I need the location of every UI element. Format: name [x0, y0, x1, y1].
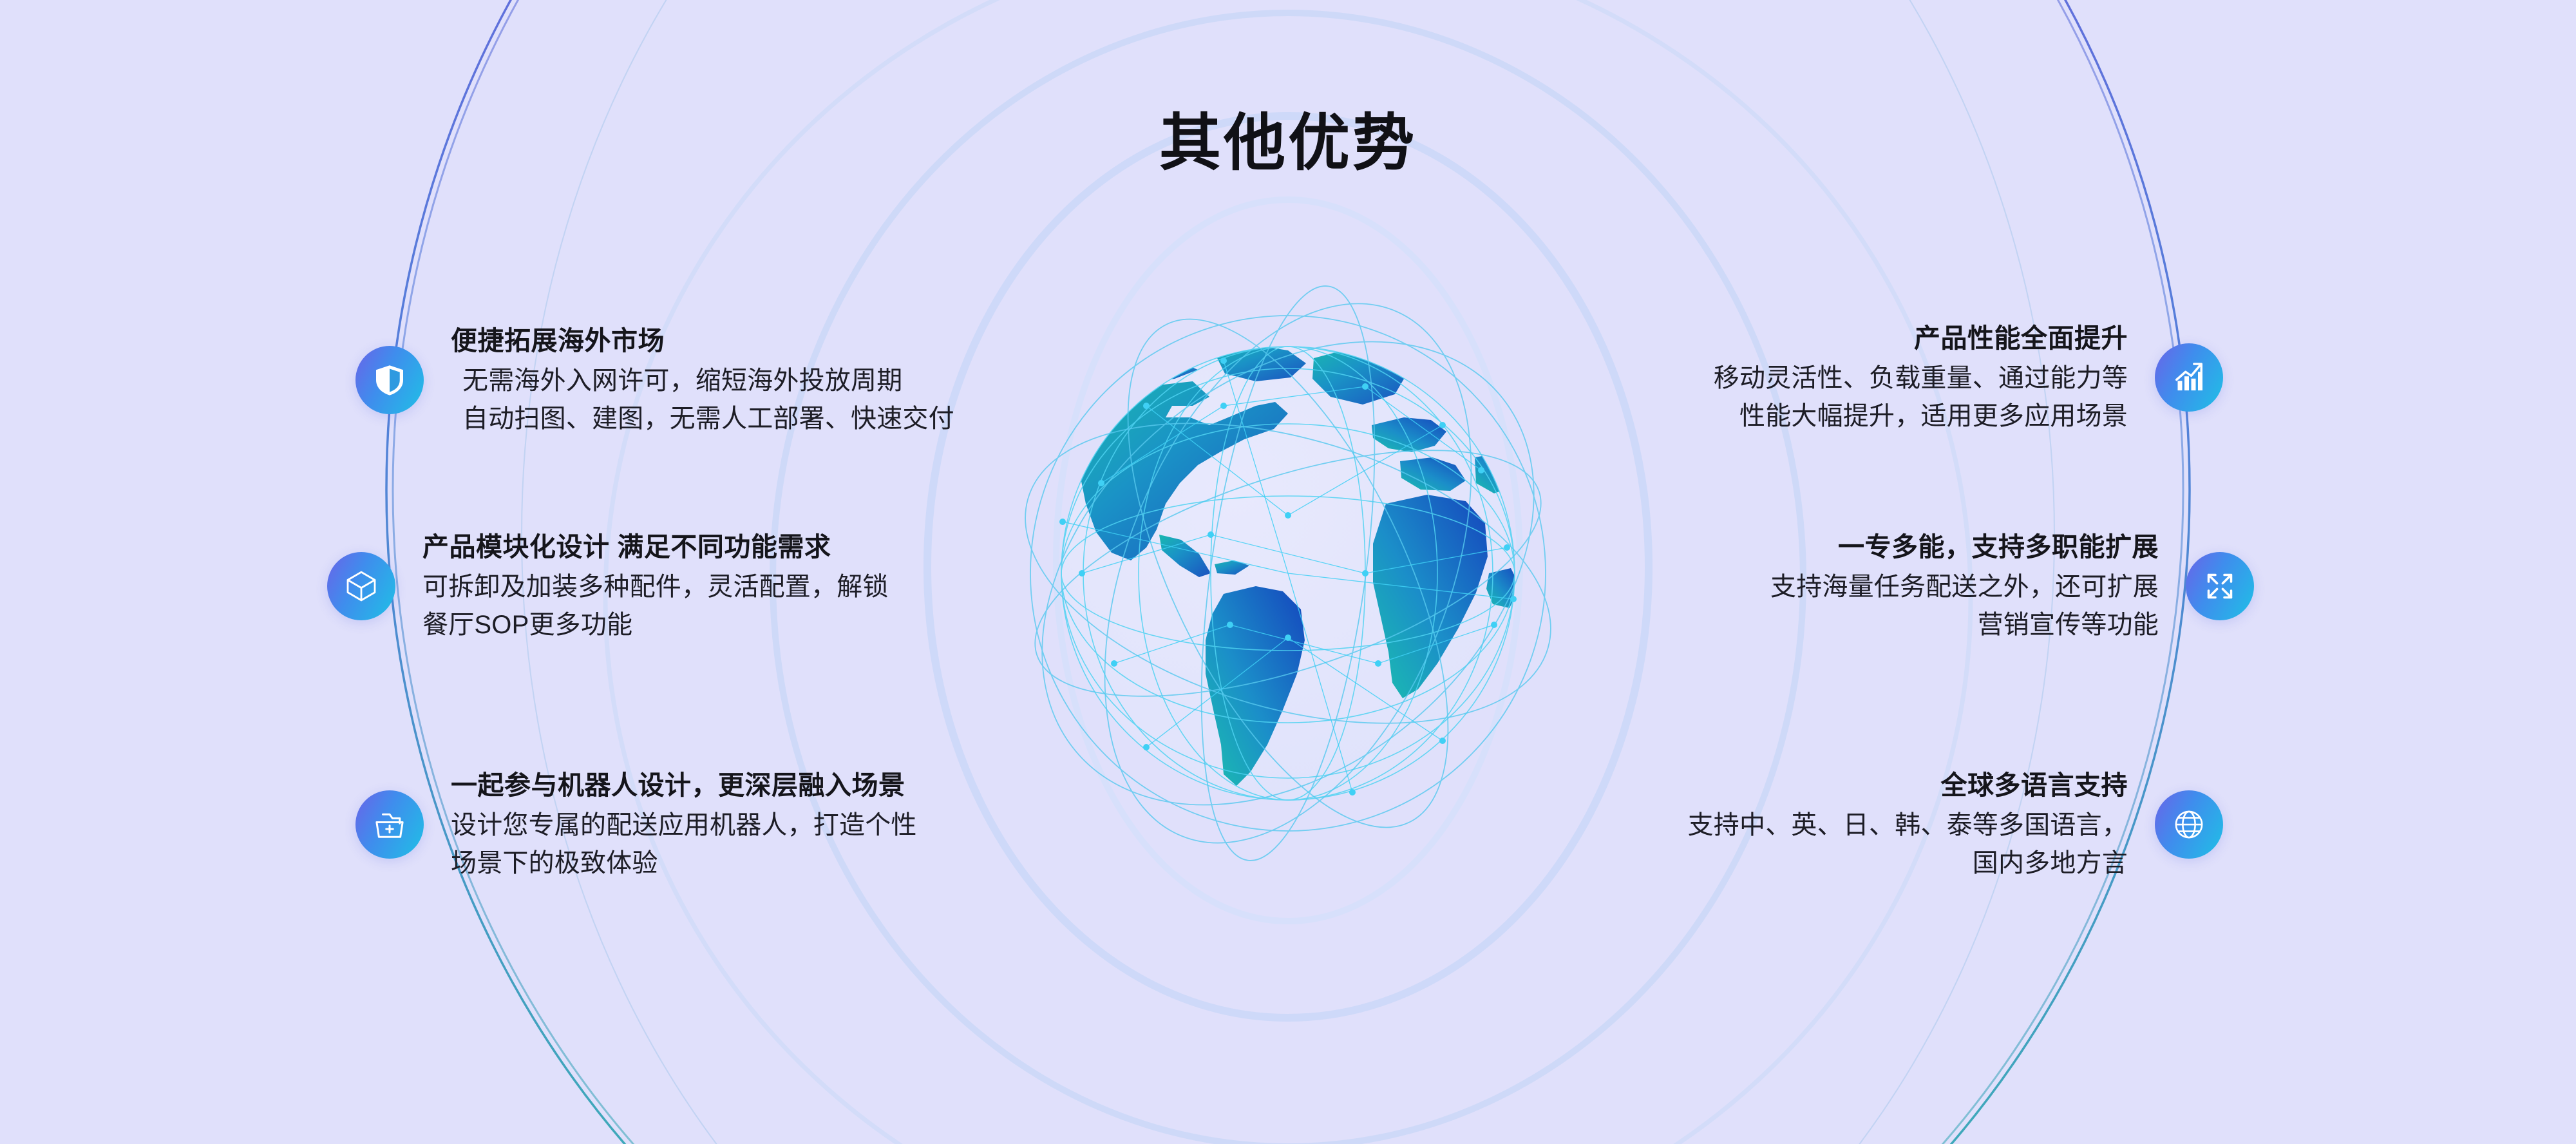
feature-line: 性能大幅提升，适用更多应用场景: [1739, 397, 2128, 435]
feature-item-right-1[interactable]: 产品性能全面提升 移动灵活性、负载重量、通过能力等 性能大幅提升，适用更多应用场…: [1714, 319, 2223, 436]
feature-line: 可拆卸及加装多种配件，灵活配置，解锁: [422, 568, 889, 606]
folder-plus-icon-glyph: [372, 806, 408, 843]
shield-icon: [355, 346, 424, 414]
feature-text-right-1: 产品性能全面提升 移动灵活性、负载重量、通过能力等 性能大幅提升，适用更多应用场…: [1714, 319, 2128, 436]
feature-title: 一专多能，支持多职能扩展: [1838, 528, 2159, 566]
expand-arrows-icon-glyph: [2202, 568, 2238, 604]
feature-line: 移动灵活性、负载重量、通过能力等: [1714, 359, 2128, 397]
feature-line: 国内多地方言: [1973, 844, 2128, 882]
feature-item-right-3[interactable]: 全球多语言支持 支持中、英、日、韩、泰等多国语言， 国内多地方言: [1688, 767, 2223, 883]
feature-line: 营销宣传等功能: [1978, 606, 2159, 644]
advantages-section: 其他优势: [0, 0, 2576, 1144]
network-globe-illustration: [953, 213, 1623, 934]
folder-plus-icon: [355, 790, 424, 859]
feature-line: 无需海外入网许可，缩短海外投放周期: [451, 362, 902, 400]
feature-title: 全球多语言支持: [1941, 767, 2128, 804]
feature-text-left-1: 便捷拓展海外市场 无需海外入网许可，缩短海外投放周期 自动扫图、建图，无需人工部…: [451, 322, 954, 439]
feature-title: 一起参与机器人设计，更深层融入场景: [451, 767, 905, 804]
feature-title: 便捷拓展海外市场: [451, 322, 665, 359]
chart-growth-icon-glyph: [2171, 359, 2207, 396]
feature-item-left-3[interactable]: 一起参与机器人设计，更深层融入场景 设计您专属的配送应用机器人，打造个性 场景下…: [355, 767, 917, 883]
feature-line: 支持中、英、日、韩、泰等多国语言，: [1688, 806, 2128, 844]
feature-title: 产品模块化设计 满足不同功能需求: [422, 528, 831, 566]
feature-title: 产品性能全面提升: [1914, 319, 2128, 357]
feature-line: 自动扫图、建图，无需人工部署、快速交付: [451, 400, 954, 438]
feature-line: 支持海量任务配送之外，还可扩展: [1770, 568, 2159, 606]
page-title: 其他优势: [0, 113, 2576, 175]
feature-text-left-3: 一起参与机器人设计，更深层融入场景 设计您专属的配送应用机器人，打造个性 场景下…: [451, 767, 917, 883]
feature-item-left-1[interactable]: 便捷拓展海外市场 无需海外入网许可，缩短海外投放周期 自动扫图、建图，无需人工部…: [355, 322, 954, 439]
cube-icon: [327, 552, 395, 620]
feature-text-right-3: 全球多语言支持 支持中、英、日、韩、泰等多国语言， 国内多地方言: [1688, 767, 2128, 883]
globe-icon-glyph: [2171, 806, 2207, 843]
cube-icon-glyph: [343, 568, 379, 604]
chart-growth-icon: [2155, 343, 2223, 412]
feature-text-left-2: 产品模块化设计 满足不同功能需求 可拆卸及加装多种配件，灵活配置，解锁 餐厅SO…: [422, 528, 889, 645]
feature-line: 场景下的极致体验: [451, 844, 658, 882]
globe-icon: [2155, 790, 2223, 859]
feature-line: 设计您专属的配送应用机器人，打造个性: [451, 806, 917, 844]
expand-arrows-icon: [2186, 552, 2254, 620]
feature-line: 餐厅SOP更多功能: [422, 606, 632, 644]
feature-item-right-2[interactable]: 一专多能，支持多职能扩展 支持海量任务配送之外，还可扩展 营销宣传等功能: [1770, 528, 2254, 645]
globe-svg: [953, 213, 1623, 934]
shield-icon-glyph: [372, 362, 408, 398]
feature-text-right-2: 一专多能，支持多职能扩展 支持海量任务配送之外，还可扩展 营销宣传等功能: [1770, 528, 2159, 645]
feature-item-left-2[interactable]: 产品模块化设计 满足不同功能需求 可拆卸及加装多种配件，灵活配置，解锁 餐厅SO…: [327, 528, 889, 645]
